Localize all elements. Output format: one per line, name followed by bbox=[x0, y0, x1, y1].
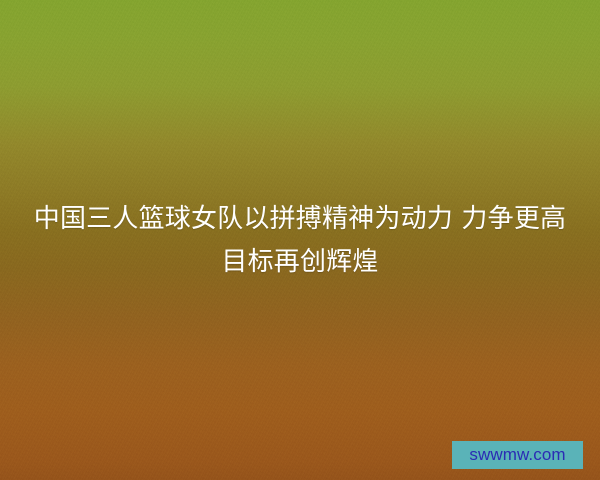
headline-text: 中国三人篮球女队以拼搏精神为动力 力争更高目标再创辉煌 bbox=[0, 198, 600, 284]
image-canvas: 中国三人篮球女队以拼搏精神为动力 力争更高目标再创辉煌 swwmw.com bbox=[0, 0, 600, 480]
watermark-url-label: swwmw.com bbox=[469, 446, 565, 464]
watermark-badge: swwmw.com bbox=[452, 441, 583, 469]
